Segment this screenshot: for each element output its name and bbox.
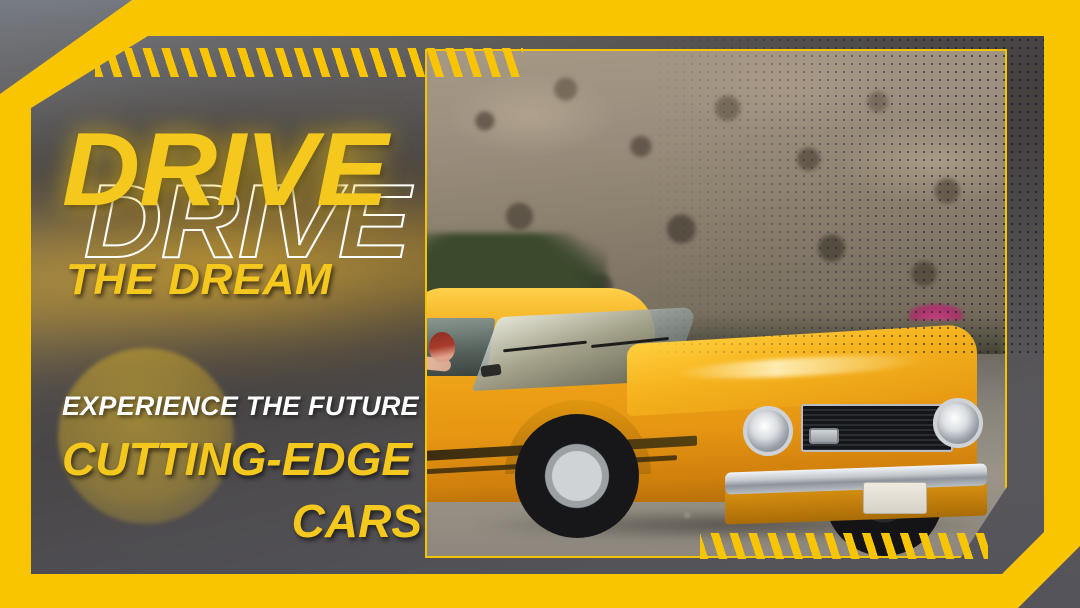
turn-signal: [809, 428, 839, 444]
side-mirror: [480, 363, 501, 377]
subheadline: THE DREAM: [66, 258, 332, 302]
hero-photo-frame: [425, 49, 1007, 558]
poster-canvas: DRIVE DRIVE THE DREAM EXPERIENCE THE FUT…: [0, 0, 1080, 608]
kicker-text: EXPERIENCE THE FUTURE: [62, 393, 430, 420]
headline-group: DRIVE DRIVE: [62, 118, 422, 268]
tagline-line-1: CUTTING-EDGE: [62, 436, 430, 482]
license-plate: [863, 482, 927, 514]
hero-photo: [427, 51, 1005, 556]
copy-block: DRIVE DRIVE THE DREAM EXPERIENCE THE FUT…: [0, 0, 430, 608]
headlight-left: [743, 406, 793, 456]
driver-head: [429, 332, 455, 362]
tagline-line-2: CARS: [62, 498, 430, 544]
headlight-right: [933, 398, 983, 448]
classic-car: [427, 226, 1005, 526]
front-wheel: [515, 414, 639, 538]
headline-solid: DRIVE: [62, 118, 387, 222]
tagline-group: EXPERIENCE THE FUTURE CUTTING-EDGE CARS: [62, 393, 430, 544]
diagonal-hatch-stripes-bottom: [700, 533, 988, 559]
